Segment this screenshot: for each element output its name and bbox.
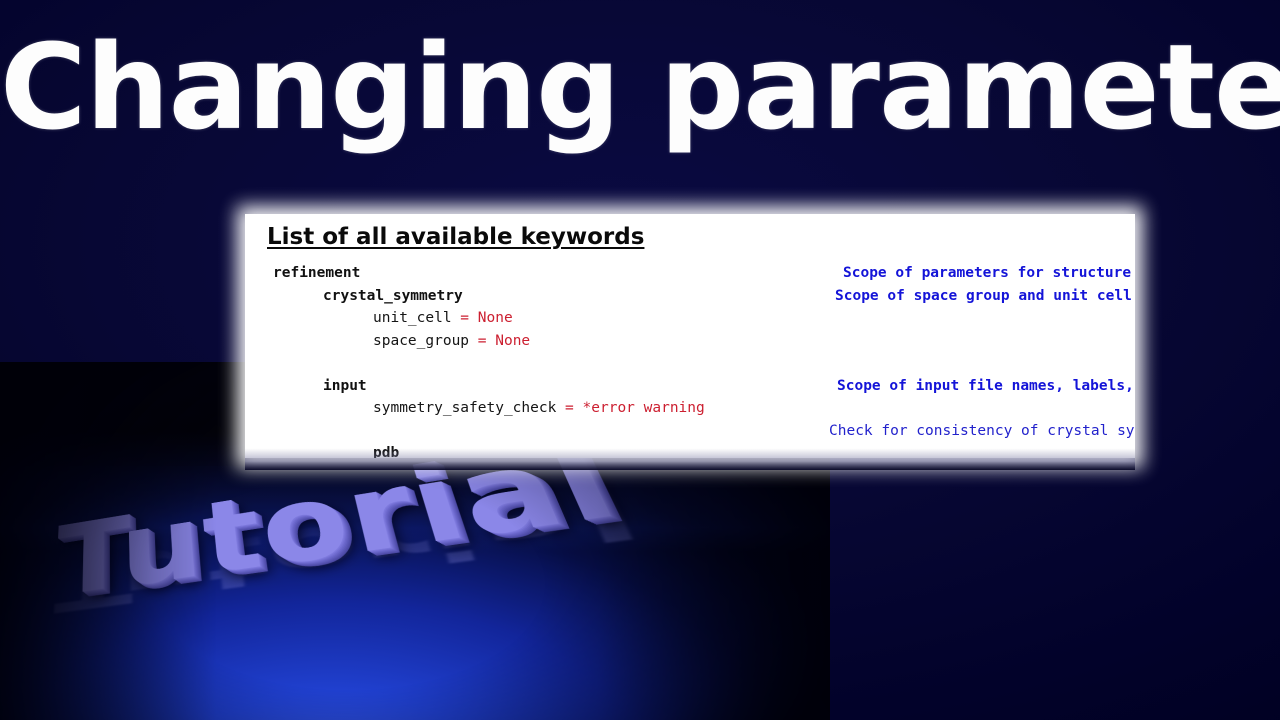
keyword-row: Check for consistency of crystal symmetr…: [245, 424, 1135, 447]
keyword-panel: List of all available keywords refinemen…: [245, 214, 1135, 458]
keyword-list: refinementScope of parameters for struct…: [245, 266, 1135, 458]
keyword-row: pdb: [245, 446, 1135, 458]
keyword-assign: =: [556, 400, 582, 416]
keyword-value: *error warning: [583, 400, 705, 416]
keyword-scope-name: refinement: [273, 266, 360, 281]
keyword-param-name: unit_cell = None: [373, 311, 513, 326]
slide-canvas: Changing parameters Tutorial Tutorial Li…: [0, 0, 1280, 720]
keyword-param-name: symmetry_safety_check = *error warning: [373, 401, 705, 416]
keyword-assign: =: [452, 310, 478, 326]
keyword-scope-name: crystal_symmetry: [323, 289, 463, 304]
keyword-name: crystal_symmetry: [323, 288, 463, 304]
keyword-value: None: [495, 333, 530, 349]
keyword-name: pdb: [373, 445, 399, 458]
keyword-row: unit_cell = None: [245, 311, 1135, 334]
keyword-description: Scope of input file names, labels, proce…: [837, 379, 1135, 394]
keyword-row: symmetry_safety_check = *error warning: [245, 401, 1135, 424]
keyword-row: inputScope of input file names, labels, …: [245, 379, 1135, 402]
keyword-assign: =: [469, 333, 495, 349]
keyword-description: Scope of space group and unit cell param…: [835, 289, 1135, 304]
keyword-scope-name: input: [323, 379, 367, 394]
keyword-row: crystal_symmetryScope of space group and…: [245, 289, 1135, 312]
page-title: Changing parameters: [0, 28, 1280, 146]
keyword-name: unit_cell: [373, 310, 452, 326]
keyword-name: input: [323, 378, 367, 394]
keyword-panel-heading: List of all available keywords: [267, 224, 644, 250]
keyword-name: space_group: [373, 333, 469, 349]
keyword-description: Scope of parameters for structure refine…: [843, 266, 1135, 281]
keyword-param-name: space_group = None: [373, 334, 530, 349]
keyword-description: Check for consistency of crystal symmetr…: [829, 424, 1135, 439]
keyword-row: space_group = None: [245, 334, 1135, 357]
keyword-scope-name: pdb: [373, 446, 399, 458]
keyword-value: None: [478, 310, 513, 326]
keyword-row: refinementScope of parameters for struct…: [245, 266, 1135, 289]
keyword-row: [245, 356, 1135, 379]
keyword-name: refinement: [273, 265, 360, 281]
keyword-name: symmetry_safety_check: [373, 400, 556, 416]
